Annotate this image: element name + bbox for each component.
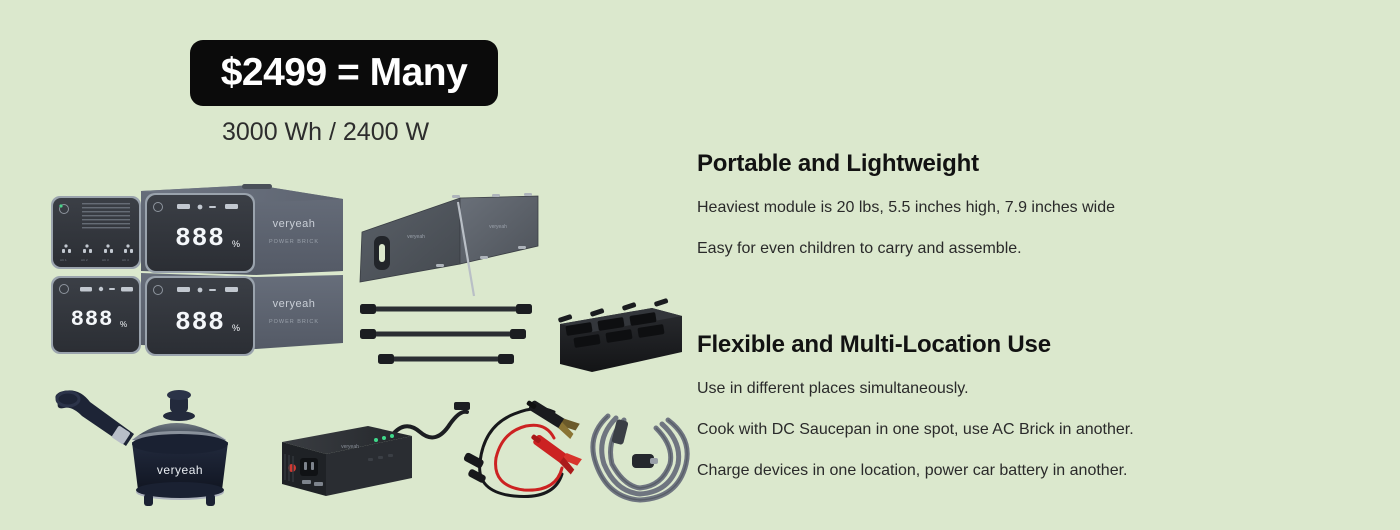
extension-cord-image bbox=[582, 402, 700, 506]
connector-cables-image bbox=[356, 300, 536, 365]
svg-text:veryeah: veryeah bbox=[341, 444, 359, 450]
section-spacer bbox=[697, 287, 1357, 331]
svg-text:veryeah: veryeah bbox=[273, 298, 316, 310]
svg-text:AC 4: AC 4 bbox=[122, 258, 129, 262]
stacked-power-bricks-image: veryeah POWER BRICK veryeah POWER BRICK bbox=[46, 183, 346, 358]
battery-percent-display: 888 bbox=[175, 223, 225, 253]
battery-percent-unit: % bbox=[232, 239, 240, 249]
svg-text:veryeah: veryeah bbox=[489, 224, 507, 230]
feature-line: Use in different places simultaneously. bbox=[697, 381, 1357, 397]
jumper-cables-image bbox=[462, 396, 590, 506]
feature-copy-column: Portable and Lightweight Heaviest module… bbox=[697, 150, 1357, 509]
brand-label: veryeah bbox=[273, 218, 316, 230]
price-badge-label: $2499 = Many bbox=[221, 51, 468, 95]
model-label: POWER BRICK bbox=[269, 239, 319, 245]
feature-heading-portable: Portable and Lightweight bbox=[697, 150, 1357, 178]
feature-block-flexible: Flexible and Multi-Location Use Use in d… bbox=[697, 331, 1357, 479]
svg-text:POWER BRICK: POWER BRICK bbox=[269, 319, 319, 325]
svg-text:veryeah: veryeah bbox=[407, 234, 425, 240]
feature-block-portable: Portable and Lightweight Heaviest module… bbox=[697, 150, 1357, 257]
feature-line: Easy for even children to carry and asse… bbox=[697, 241, 1357, 257]
capacity-spec-label: 3000 Wh / 2400 W bbox=[222, 118, 429, 147]
svg-text:veryeah: veryeah bbox=[157, 463, 203, 477]
ac-inverter-image: veryeah bbox=[272, 398, 467, 506]
dc-saucepan-image: veryeah bbox=[34, 378, 274, 513]
svg-text:888: 888 bbox=[71, 307, 114, 332]
feature-line: Heaviest module is 20 lbs, 5.5 inches hi… bbox=[697, 200, 1357, 216]
svg-text:888: 888 bbox=[175, 307, 225, 337]
product-feature-banner: $2499 = Many 3000 Wh / 2400 W Portable a… bbox=[0, 0, 1400, 530]
svg-text:AC 1: AC 1 bbox=[60, 258, 67, 262]
svg-text:AC 3: AC 3 bbox=[102, 258, 109, 262]
svg-text:%: % bbox=[232, 323, 240, 333]
connector-dock-image bbox=[552, 288, 687, 373]
svg-text:%: % bbox=[120, 320, 127, 329]
svg-text:AC 2: AC 2 bbox=[81, 258, 88, 262]
price-badge: $2499 = Many bbox=[190, 40, 498, 106]
feature-line: Cook with DC Saucepan in one spot, use A… bbox=[697, 422, 1357, 438]
solar-panel-image: veryeah veryeah bbox=[352, 186, 542, 296]
feature-heading-flexible: Flexible and Multi-Location Use bbox=[697, 331, 1357, 359]
feature-line: Charge devices in one location, power ca… bbox=[697, 463, 1357, 479]
